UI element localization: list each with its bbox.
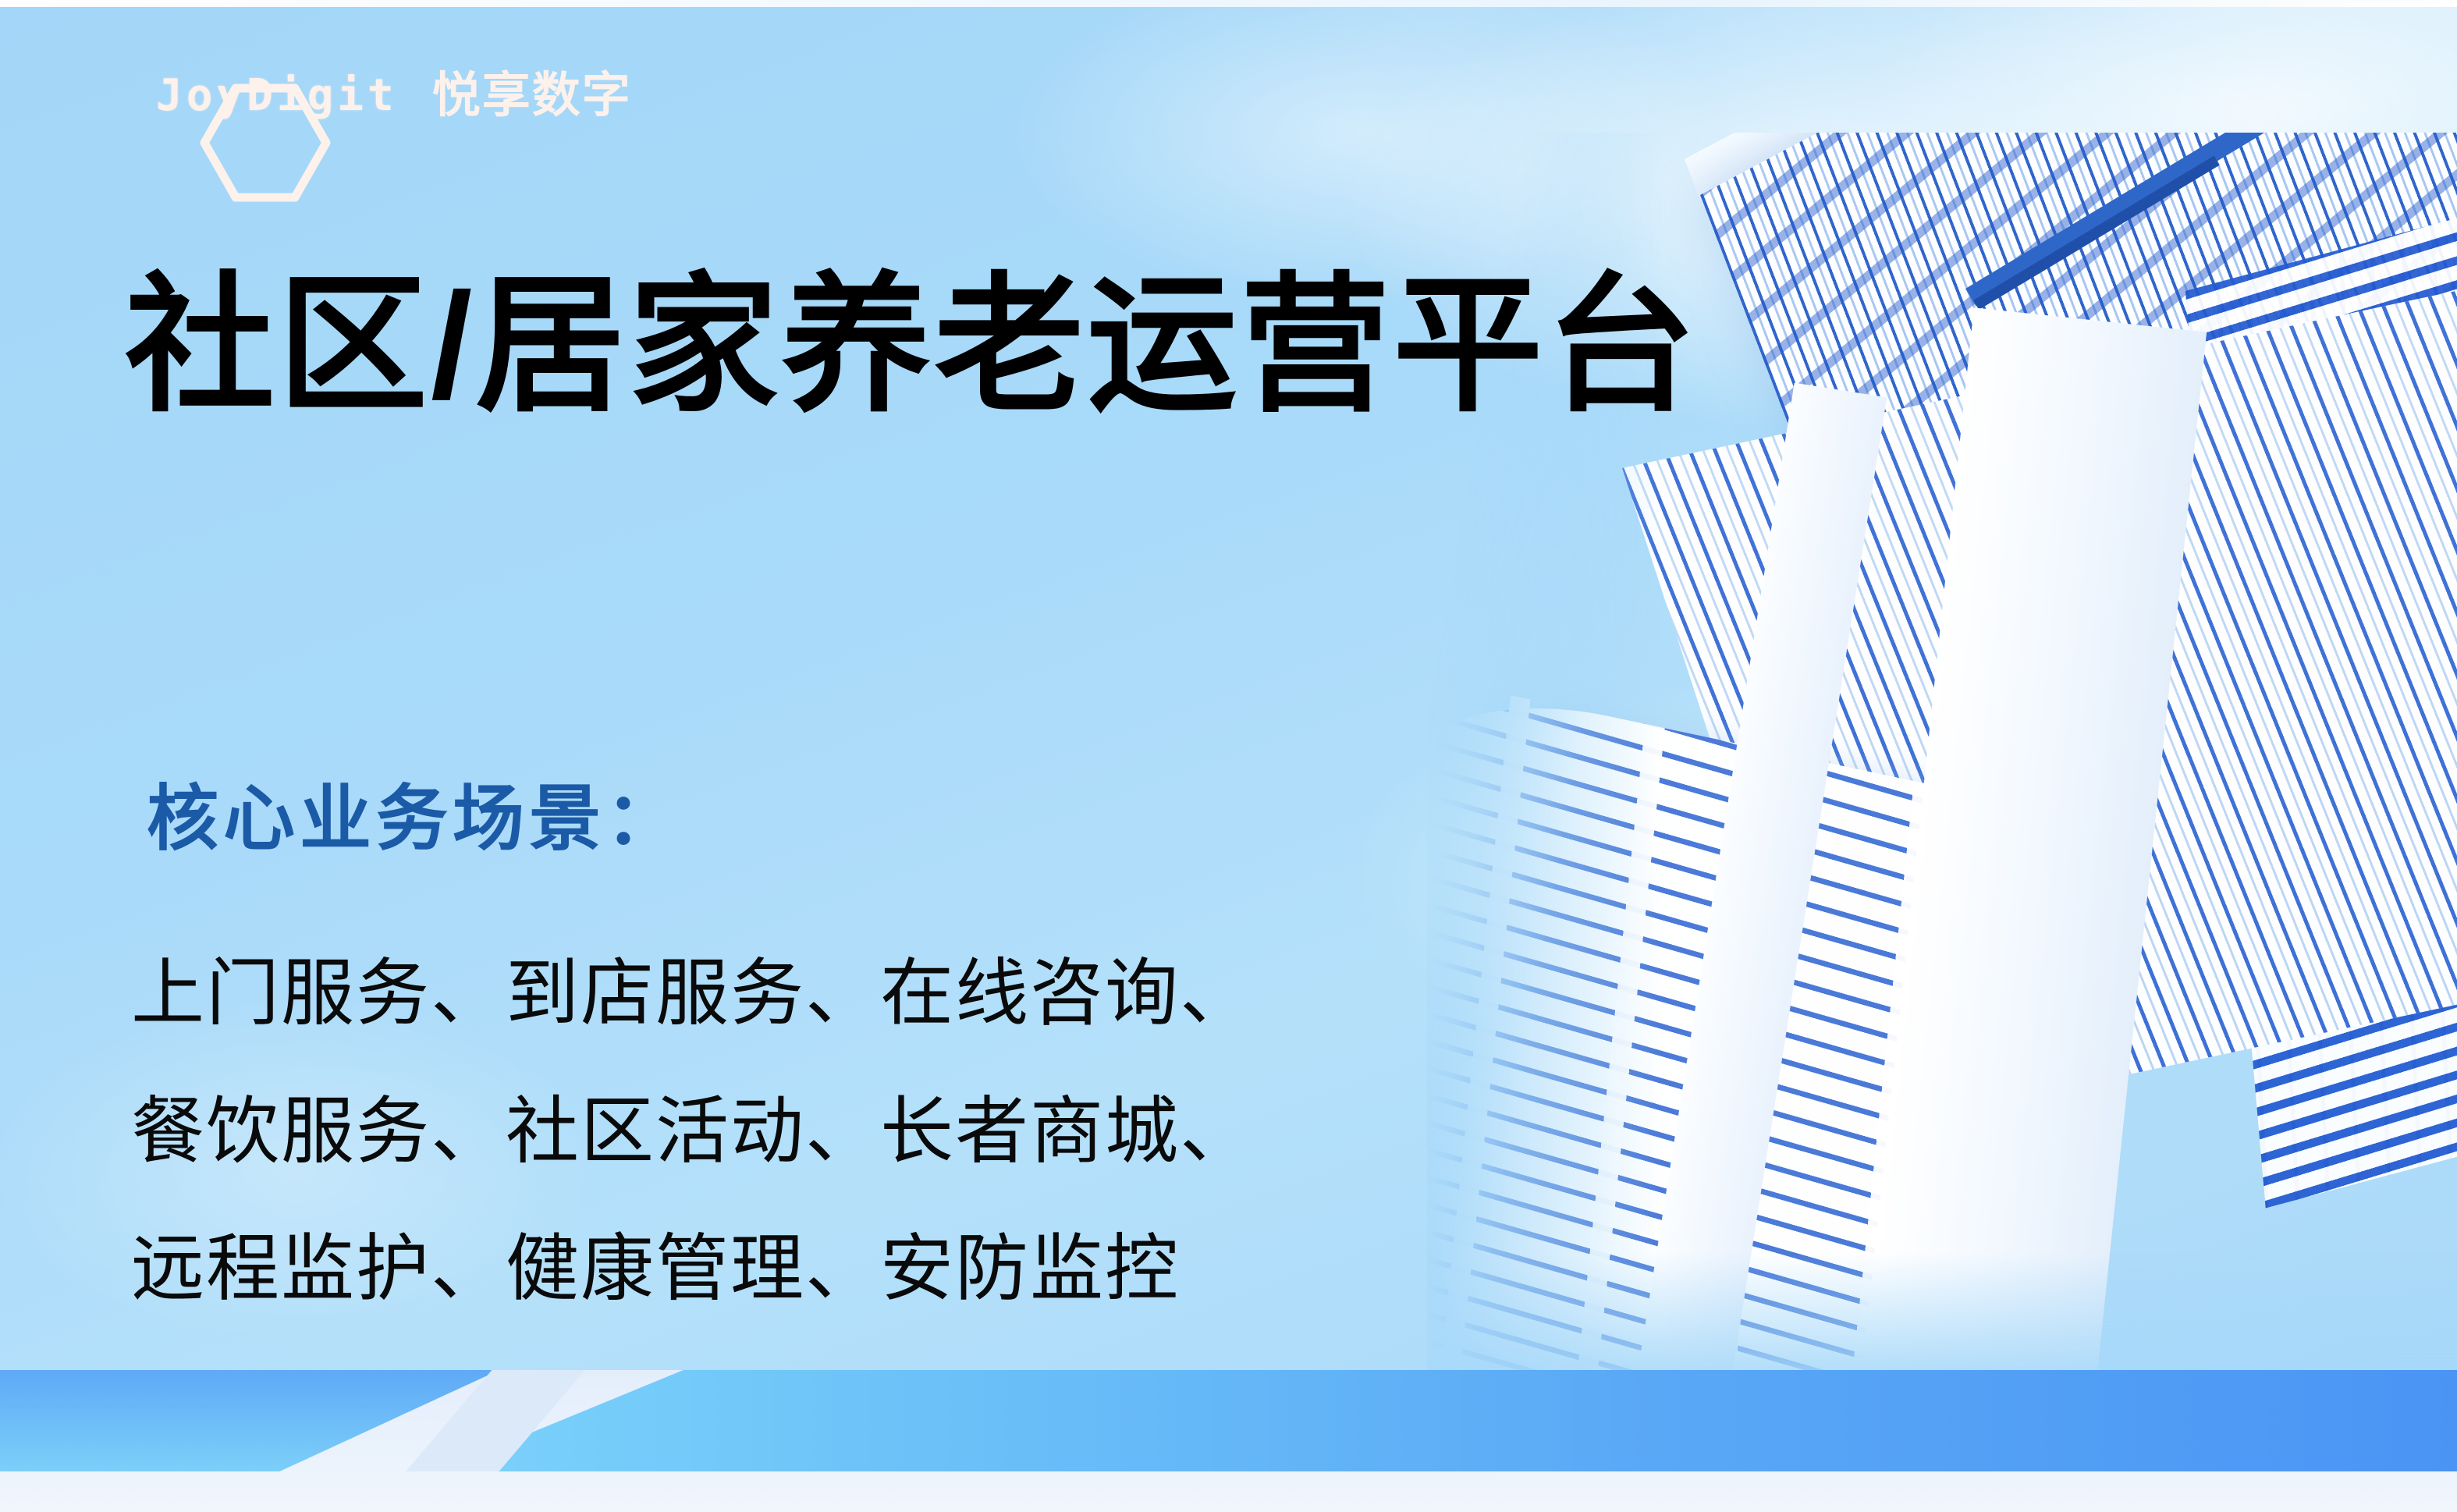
page-title: 社区/居家养老运营平台 — [125, 261, 1699, 429]
hexagon-outline-icon — [200, 83, 331, 202]
photo-bottom-fade — [1427, 1252, 2457, 1377]
scenario-line: 餐饮服务、社区活动、长者商城、 — [131, 1063, 1255, 1201]
scenario-line: 上门服务、到店服务、在线咨询、 — [131, 925, 1255, 1063]
top-edge-strip — [0, 0, 2457, 7]
section-subheading: 核心业务场景： — [147, 780, 682, 859]
band-right-shape — [437, 1370, 2457, 1471]
brand-logo: JoyDigit 悦享数字 — [139, 72, 632, 120]
slide-canvas: JoyDigit 悦享数字 社区/居家养老运营平台 核心业务场景： 上门服务、到… — [0, 0, 2457, 1512]
scenario-list: 上门服务、到店服务、在线咨询、 餐饮服务、社区活动、长者商城、 远程监护、健康管… — [131, 925, 1255, 1338]
logo-chinese-text: 悦享数字 — [432, 72, 632, 120]
diagonal-blue-band — [0, 1370, 2457, 1471]
scenario-line: 远程监护、健康管理、安防监控 — [131, 1200, 1255, 1338]
